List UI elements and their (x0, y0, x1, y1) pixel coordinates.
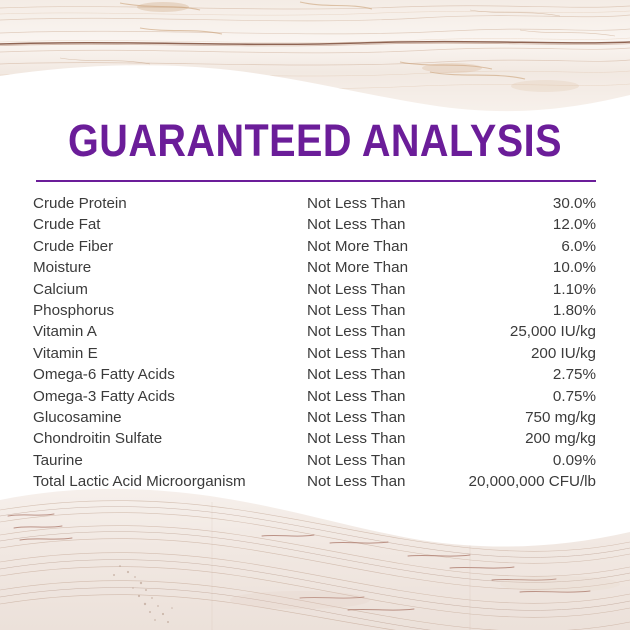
nutrient-name: Omega-6 Fatty Acids (33, 364, 307, 385)
table-row: Omega-6 Fatty AcidsNot Less Than2.75% (33, 364, 596, 385)
table-row: Vitamin ENot Less Than200 IU/kg (33, 343, 596, 364)
nutrient-name: Glucosamine (33, 407, 307, 428)
wood-texture-bottom (0, 480, 630, 630)
nutrient-name: Chondroitin Sulfate (33, 428, 307, 449)
nutrient-qualifier: Not Less Than (307, 386, 461, 407)
nutrient-amount: 2.75% (461, 364, 596, 385)
nutrient-qualifier: Not More Than (307, 236, 461, 257)
nutrient-qualifier: Not Less Than (307, 279, 461, 300)
nutrient-name: Calcium (33, 279, 307, 300)
nutrient-amount: 1.80% (461, 300, 596, 321)
wood-texture-top (0, 0, 630, 120)
nutrient-name: Omega-3 Fatty Acids (33, 386, 307, 407)
nutrient-name: Crude Fat (33, 214, 307, 235)
table-row: PhosphorusNot Less Than1.80% (33, 300, 596, 321)
nutrient-qualifier: Not Less Than (307, 428, 461, 449)
nutrient-amount: 30.0% (461, 193, 596, 214)
table-row: Vitamin ANot Less Than25,000 IU/kg (33, 321, 596, 342)
table-row: Crude ProteinNot Less Than30.0% (33, 193, 596, 214)
nutrient-qualifier: Not Less Than (307, 407, 461, 428)
nutrient-qualifier: Not Less Than (307, 321, 461, 342)
nutrient-amount: 750 mg/kg (461, 407, 596, 428)
nutrient-qualifier: Not Less Than (307, 343, 461, 364)
table-row: Crude FatNot Less Than12.0% (33, 214, 596, 235)
nutrient-name: Crude Fiber (33, 236, 307, 257)
table-row: TaurineNot Less Than0.09% (33, 450, 596, 471)
nutrient-name: Moisture (33, 257, 307, 278)
nutrient-amount: 6.0% (461, 236, 596, 257)
nutrient-qualifier: Not Less Than (307, 450, 461, 471)
guaranteed-analysis-panel: GUARANTEED ANALYSIS Crude ProteinNot Les… (0, 0, 630, 630)
analysis-table-body: Crude ProteinNot Less Than30.0%Crude Fat… (33, 193, 596, 493)
nutrient-qualifier: Not More Than (307, 257, 461, 278)
nutrient-amount: 200 IU/kg (461, 343, 596, 364)
guaranteed-analysis-table: Crude ProteinNot Less Than30.0%Crude Fat… (33, 193, 596, 493)
nutrient-amount: 200 mg/kg (461, 428, 596, 449)
nutrient-name: Phosphorus (33, 300, 307, 321)
title-block: GUARANTEED ANALYSIS (0, 118, 630, 164)
page-title: GUARANTEED ANALYSIS (38, 118, 592, 164)
wood-top-graphic (0, 0, 630, 120)
table-row: GlucosamineNot Less Than750 mg/kg (33, 407, 596, 428)
nutrient-qualifier: Not Less Than (307, 214, 461, 235)
nutrient-amount: 0.75% (461, 386, 596, 407)
nutrient-name: Vitamin E (33, 343, 307, 364)
table-row: CalciumNot Less Than1.10% (33, 279, 596, 300)
nutrient-qualifier: Not Less Than (307, 300, 461, 321)
wood-bottom-graphic (0, 480, 630, 630)
nutrient-amount: 25,000 IU/kg (461, 321, 596, 342)
table-row: Chondroitin SulfateNot Less Than200 mg/k… (33, 428, 596, 449)
nutrient-amount: 12.0% (461, 214, 596, 235)
table-row: MoistureNot More Than10.0% (33, 257, 596, 278)
nutrient-name: Crude Protein (33, 193, 307, 214)
table-row: Crude FiberNot More Than6.0% (33, 236, 596, 257)
nutrient-amount: 1.10% (461, 279, 596, 300)
table-row: Omega-3 Fatty AcidsNot Less Than0.75% (33, 386, 596, 407)
nutrient-name: Taurine (33, 450, 307, 471)
nutrient-qualifier: Not Less Than (307, 364, 461, 385)
title-underline-rule (36, 180, 596, 182)
nutrient-amount: 10.0% (461, 257, 596, 278)
nutrient-name: Vitamin A (33, 321, 307, 342)
nutrient-qualifier: Not Less Than (307, 193, 461, 214)
nutrient-amount: 0.09% (461, 450, 596, 471)
